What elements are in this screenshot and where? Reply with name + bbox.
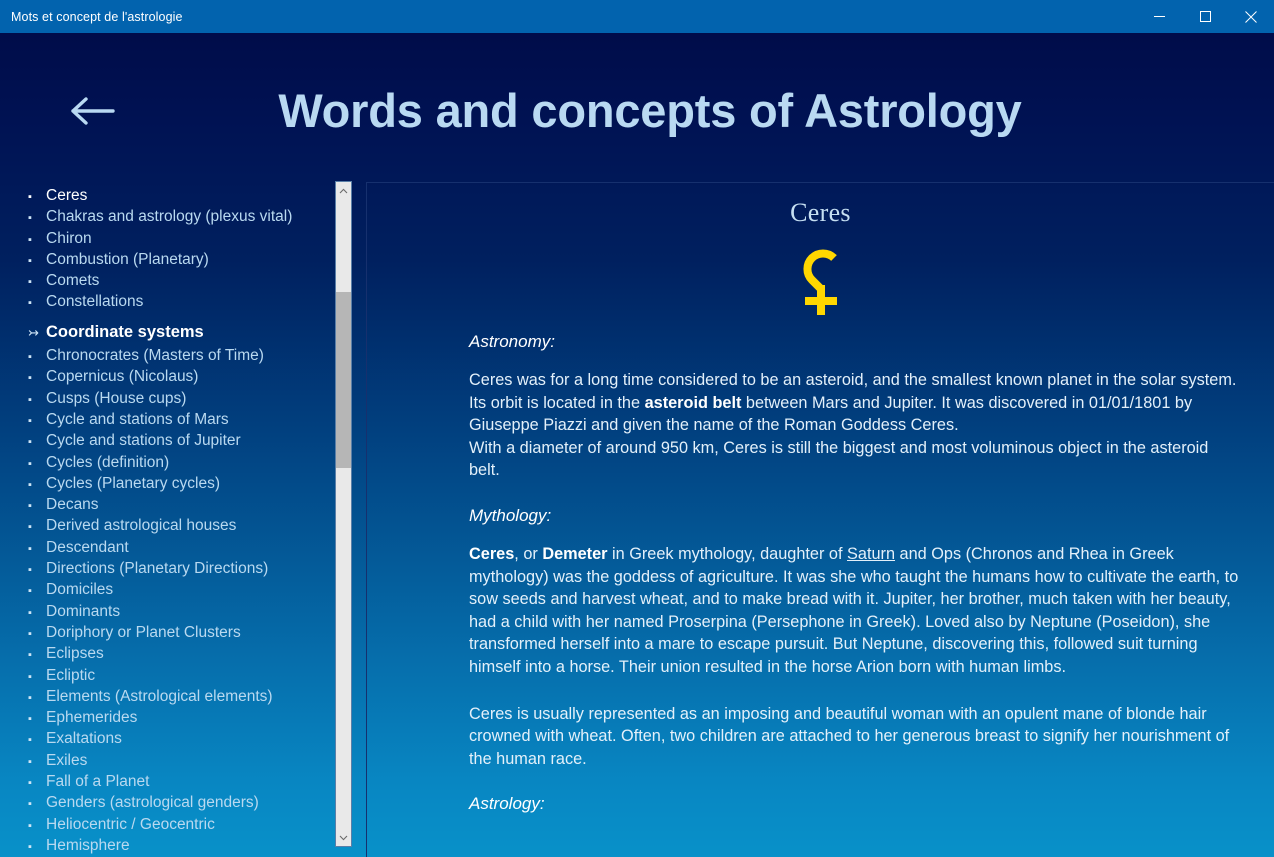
sidebar-item-elements-astrological-elements[interactable]: ▪Elements (Astrological elements) — [0, 686, 334, 707]
scroll-down-button[interactable] — [336, 829, 351, 846]
bullet-icon: ▪ — [28, 208, 46, 229]
sidebar-nav[interactable]: ▪Ceres▪Chakras and astrology (plexus vit… — [0, 180, 334, 857]
sidebar-item-dominants[interactable]: ▪Dominants — [0, 601, 334, 622]
content-panel[interactable]: Ceres Astronomy:Ceres was for a long tim… — [366, 182, 1274, 857]
minimize-icon — [1154, 11, 1165, 22]
bullet-icon: ▪ — [28, 496, 46, 517]
sidebar-item-cycle-and-stations-of-jupiter[interactable]: ▪Cycle and stations of Jupiter — [0, 430, 334, 451]
sidebar-item-eclipses[interactable]: ▪Eclipses — [0, 643, 334, 664]
sidebar-item-label: Decans — [46, 494, 99, 515]
sidebar-item-label: Exaltations — [46, 728, 122, 749]
bullet-icon: ▪ — [28, 293, 46, 314]
bullet-icon: ▪ — [28, 773, 46, 794]
chevron-down-icon — [339, 835, 348, 841]
paragraph: Ceres was for a long time considered to … — [469, 369, 1240, 482]
sidebar-item-fall-of-a-planet[interactable]: ▪Fall of a Planet — [0, 771, 334, 792]
entry-title: Ceres — [367, 198, 1274, 228]
bullet-icon: ▪ — [28, 752, 46, 773]
sidebar-item-hemisphere[interactable]: ▪Hemisphere — [0, 835, 334, 856]
bullet-icon: ▪ — [28, 688, 46, 709]
window-title: Mots et concept de l'astrologie — [11, 10, 183, 24]
sidebar-item-label: Hemisphere — [46, 835, 130, 856]
sidebar-item-label: Dominants — [46, 601, 120, 622]
section-heading: Astronomy: — [469, 332, 1240, 352]
bullet-icon: ▪ — [28, 667, 46, 688]
text-run: With a diameter of around 950 km, Ceres … — [469, 439, 1208, 480]
bullet-icon: ▪ — [28, 794, 46, 815]
sidebar-item-cusps-house-cups[interactable]: ▪Cusps (House cups) — [0, 388, 334, 409]
sidebar-item-label: Cycle and stations of Jupiter — [46, 430, 241, 451]
inline-link-saturn[interactable]: Saturn — [847, 545, 895, 563]
sidebar-item-label: Directions (Planetary Directions) — [46, 558, 268, 579]
sidebar-item-genders-astrological-genders[interactable]: ▪Genders (astrological genders) — [0, 792, 334, 813]
scrollbar-thumb[interactable] — [336, 292, 351, 468]
sidebar-item-doriphory-or-planet-clusters[interactable]: ▪Doriphory or Planet Clusters — [0, 622, 334, 643]
sidebar-item-label: Cusps (House cups) — [46, 388, 186, 409]
sidebar-item-label: Chiron — [46, 228, 92, 249]
bullet-icon: ▪ — [28, 347, 46, 368]
sidebar-item-cycle-and-stations-of-mars[interactable]: ▪Cycle and stations of Mars — [0, 409, 334, 430]
bullet-icon: ▪ — [28, 645, 46, 666]
text-run: Ceres is usually represented as an impos… — [469, 705, 1229, 768]
sidebar-item-label: Elements (Astrological elements) — [46, 686, 273, 707]
sidebar-item-label: Domiciles — [46, 579, 113, 600]
section-heading: Astrology: — [469, 794, 1240, 814]
sidebar-item-label: Heliocentric / Geocentric — [46, 814, 215, 835]
close-icon — [1245, 11, 1257, 23]
sidebar-item-label: Doriphory or Planet Clusters — [46, 622, 241, 643]
sidebar-item-label: Combustion (Planetary) — [46, 249, 209, 270]
back-button[interactable] — [62, 89, 122, 133]
sidebar-item-decans[interactable]: ▪Decans — [0, 494, 334, 515]
sidebar-item-domiciles[interactable]: ▪Domiciles — [0, 579, 334, 600]
bullet-icon: ▪ — [28, 837, 46, 857]
minimize-button[interactable] — [1136, 0, 1182, 33]
sidebar-item-descendant[interactable]: ▪Descendant — [0, 537, 334, 558]
sidebar-item-label: Ecliptic — [46, 665, 95, 686]
bullet-icon: ▪ — [28, 624, 46, 645]
sidebar-item-comets[interactable]: ▪Comets — [0, 270, 334, 291]
sidebar-item-directions-planetary-directions[interactable]: ▪Directions (Planetary Directions) — [0, 558, 334, 579]
page-title: Words and concepts of Astrology — [150, 83, 1150, 138]
sidebar-item-label: Comets — [46, 270, 99, 291]
bullet-icon: ▪ — [28, 411, 46, 432]
bold-text: Ceres — [469, 545, 514, 563]
sidebar-item-label: Fall of a Planet — [46, 771, 149, 792]
paragraph: Ceres is usually represented as an impos… — [469, 703, 1240, 771]
sidebar-item-label: Derived astrological houses — [46, 515, 236, 536]
bullet-icon: ▪ — [28, 475, 46, 496]
sidebar-item-label: Genders (astrological genders) — [46, 792, 259, 813]
sidebar-item-cycles-planetary-cycles[interactable]: ▪Cycles (Planetary cycles) — [0, 473, 334, 494]
sidebar-item-label: Eclipses — [46, 643, 104, 664]
sidebar-item-label: Exiles — [46, 750, 87, 771]
maximize-button[interactable] — [1182, 0, 1228, 33]
sidebar-item-heliocentric-geocentric[interactable]: ▪Heliocentric / Geocentric — [0, 814, 334, 835]
chevron-up-icon — [339, 188, 348, 194]
bold-text: asteroid belt — [645, 394, 742, 412]
bullet-icon: ▪ — [28, 390, 46, 411]
sidebar-item-label: Chronocrates (Masters of Time) — [46, 345, 264, 366]
bullet-icon: ▪ — [28, 603, 46, 624]
sidebar-item-label: Ceres — [46, 185, 87, 206]
text-run: in Greek mythology, daughter of — [608, 545, 848, 563]
section-heading: Mythology: — [469, 506, 1240, 526]
close-button[interactable] — [1228, 0, 1274, 33]
window-controls — [1136, 0, 1274, 33]
sidebar-item-coordinate-systems[interactable]: ↣Coordinate systems — [0, 322, 334, 343]
bullet-icon: ▪ — [28, 539, 46, 560]
bold-text: Demeter — [542, 545, 607, 563]
sidebar-item-label: Coordinate systems — [46, 322, 204, 343]
bullet-icon: ▪ — [28, 816, 46, 837]
application-window: Mots et concept de l'astrologie — [0, 0, 1274, 857]
text-run: , or — [514, 545, 542, 563]
sidebar-item-derived-astrological-houses[interactable]: ▪Derived astrological houses — [0, 515, 334, 536]
sidebar-item-ceres[interactable]: ▪Ceres — [0, 185, 334, 206]
sidebar-item-cycles-definition[interactable]: ▪Cycles (definition) — [0, 452, 334, 473]
sidebar-item-exaltations[interactable]: ▪Exaltations — [0, 728, 334, 749]
group-arrow-icon: ↣ — [28, 322, 46, 343]
bullet-icon: ▪ — [28, 230, 46, 251]
bullet-icon: ▪ — [28, 517, 46, 538]
page-header: Words and concepts of Astrology — [0, 33, 1274, 180]
sidebar-item-label: Ephemerides — [46, 707, 137, 728]
sidebar-item-label: Descendant — [46, 537, 129, 558]
scroll-up-button[interactable] — [336, 182, 351, 199]
bullet-icon: ▪ — [28, 187, 46, 208]
sidebar-item-chronocrates-masters-of-time[interactable]: ▪Chronocrates (Masters of Time) — [0, 345, 334, 366]
text-run: and Ops (Chronos and Rhea in Greek mytho… — [469, 545, 1238, 676]
bullet-icon: ▪ — [28, 454, 46, 475]
sidebar-item-label: Cycles (definition) — [46, 452, 169, 473]
ceres-astrological-symbol-icon — [790, 245, 852, 319]
sidebar-item-chakras-and-astrology-plexus-vital[interactable]: ▪Chakras and astrology (plexus vital) — [0, 206, 334, 227]
bullet-icon: ▪ — [28, 709, 46, 730]
sidebar-item-label: Chakras and astrology (plexus vital) — [46, 206, 292, 227]
sidebar-item-ephemerides[interactable]: ▪Ephemerides — [0, 707, 334, 728]
sidebar-scrollbar[interactable] — [335, 181, 352, 847]
sidebar-list: ▪Ceres▪Chakras and astrology (plexus vit… — [0, 180, 334, 856]
sidebar-item-label: Copernicus (Nicolaus) — [46, 366, 198, 387]
bullet-icon: ▪ — [28, 730, 46, 751]
sidebar-item-label: Cycles (Planetary cycles) — [46, 473, 220, 494]
maximize-icon — [1200, 11, 1211, 22]
entry-body: Astronomy:Ceres was for a long time cons… — [367, 332, 1274, 814]
sidebar-item-combustion-planetary[interactable]: ▪Combustion (Planetary) — [0, 249, 334, 270]
bullet-icon: ▪ — [28, 368, 46, 389]
entry-symbol — [367, 245, 1274, 319]
sidebar-item-label: Constellations — [46, 291, 143, 312]
sidebar-item-exiles[interactable]: ▪Exiles — [0, 750, 334, 771]
sidebar-item-label: Cycle and stations of Mars — [46, 409, 229, 430]
bullet-icon: ▪ — [28, 251, 46, 272]
bullet-icon: ▪ — [28, 432, 46, 453]
paragraph: Ceres, or Demeter in Greek mythology, da… — [469, 543, 1240, 679]
title-bar: Mots et concept de l'astrologie — [0, 0, 1274, 33]
sidebar-item-constellations[interactable]: ▪Constellations — [0, 291, 334, 312]
sidebar-item-ecliptic[interactable]: ▪Ecliptic — [0, 665, 334, 686]
bullet-icon: ▪ — [28, 560, 46, 581]
back-arrow-icon — [69, 95, 115, 127]
sidebar-item-chiron[interactable]: ▪Chiron — [0, 228, 334, 249]
bullet-icon: ▪ — [28, 581, 46, 602]
bullet-icon: ▪ — [28, 272, 46, 293]
sidebar-item-copernicus-nicolaus[interactable]: ▪Copernicus (Nicolaus) — [0, 366, 334, 387]
